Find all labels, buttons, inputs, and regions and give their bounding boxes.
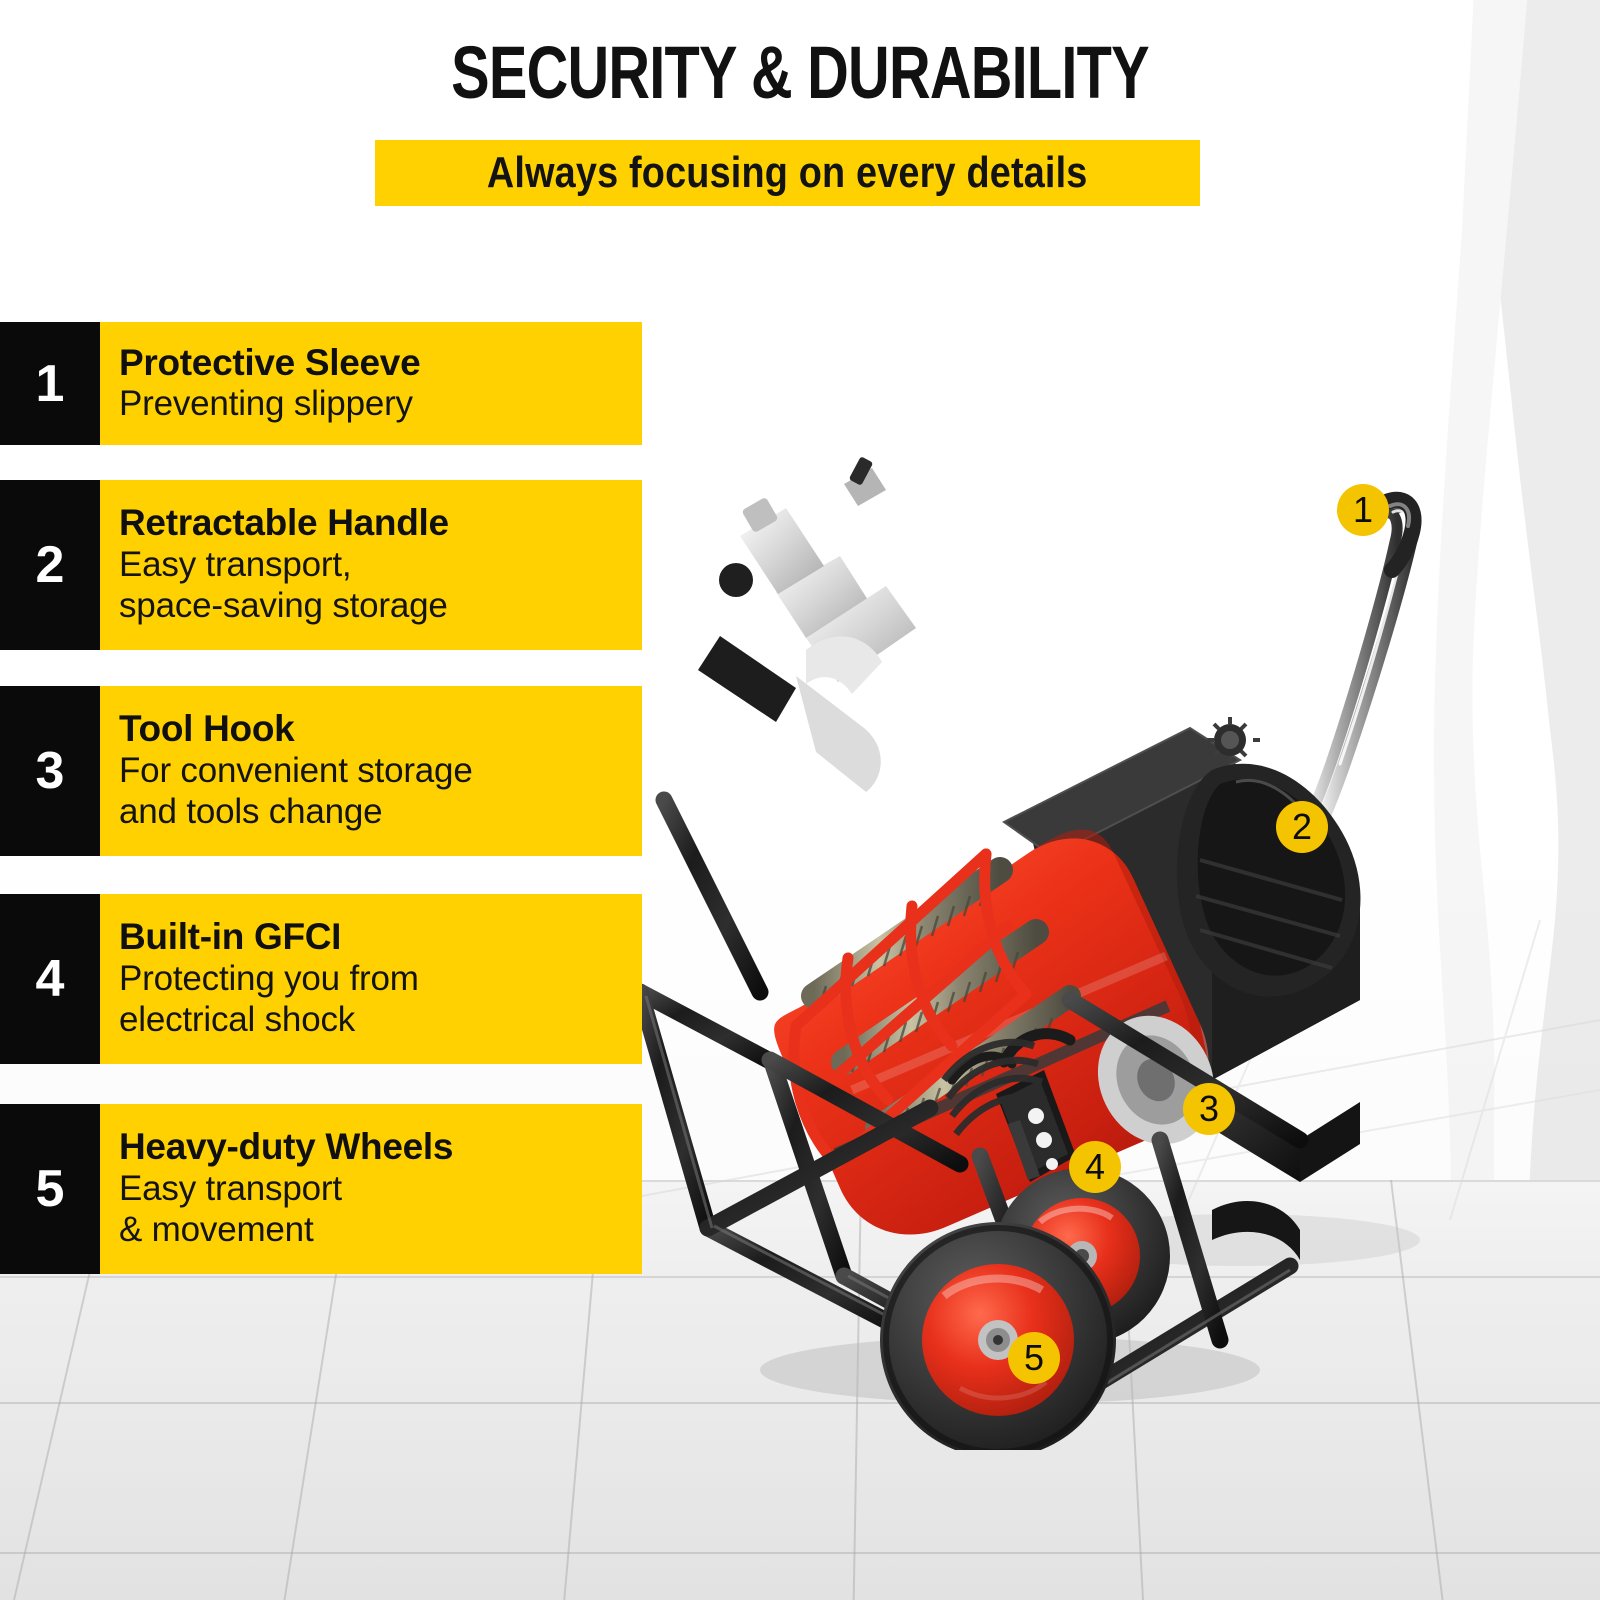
feature-title-1: Protective Sleeve	[119, 342, 626, 383]
heavy-duty-wheel	[880, 1222, 1116, 1450]
callout-badge-1: 1	[1337, 484, 1389, 536]
feature-body-2: Retractable Handle Easy transport, space…	[100, 480, 642, 650]
feature-desc-3: For convenient storage and tools change	[119, 750, 626, 833]
subtitle-banner: Always focusing on every details	[375, 140, 1200, 206]
feature-number-3: 3	[0, 686, 100, 856]
feature-desc-1: Preventing slippery	[119, 383, 626, 424]
feature-number-5: 5	[0, 1104, 100, 1274]
cable-feed-head	[698, 456, 916, 792]
feature-title-5: Heavy-duty Wheels	[119, 1126, 626, 1167]
feature-title-4: Built-in GFCI	[119, 916, 626, 957]
feature-title-2: Retractable Handle	[119, 502, 626, 543]
feature-number-4: 4	[0, 894, 100, 1064]
feature-item-tool-hook: 3 Tool Hook For convenient storage and t…	[0, 686, 642, 856]
callout-badge-2: 2	[1276, 801, 1328, 853]
feature-body-1: Protective Sleeve Preventing slippery	[100, 322, 642, 445]
drain-cleaner-machine	[600, 440, 1500, 1450]
feature-title-3: Tool Hook	[119, 708, 626, 749]
callout-badge-5: 5	[1008, 1332, 1060, 1384]
feature-body-5: Heavy-duty Wheels Easy transport & movem…	[100, 1104, 642, 1274]
subtitle-text: Always focusing on every details	[487, 148, 1088, 198]
feature-desc-4: Protecting you from electrical shock	[119, 958, 626, 1041]
feature-number-2: 2	[0, 480, 100, 650]
feature-desc-5: Easy transport & movement	[119, 1168, 626, 1251]
feature-item-retractable-handle: 2 Retractable Handle Easy transport, spa…	[0, 480, 642, 650]
callout-badge-4: 4	[1069, 1141, 1121, 1193]
feature-body-4: Built-in GFCI Protecting you from electr…	[100, 894, 642, 1064]
feature-number-1: 1	[0, 322, 100, 445]
feature-item-built-in-gfci: 4 Built-in GFCI Protecting you from elec…	[0, 894, 642, 1064]
callout-badge-3: 3	[1183, 1083, 1235, 1135]
feature-desc-2: Easy transport, space-saving storage	[119, 544, 626, 627]
infographic-page: 1 2 3 4 5 SECURITY & DURABILITY Always f…	[0, 0, 1600, 1600]
feature-item-heavy-duty-wheels: 5 Heavy-duty Wheels Easy transport & mov…	[0, 1104, 642, 1274]
page-title: SECURITY & DURABILITY	[176, 36, 1424, 110]
feed-knob	[719, 563, 753, 597]
feature-body-3: Tool Hook For convenient storage and too…	[100, 686, 642, 856]
feature-item-protective-sleeve: 1 Protective Sleeve Preventing slippery	[0, 322, 642, 445]
